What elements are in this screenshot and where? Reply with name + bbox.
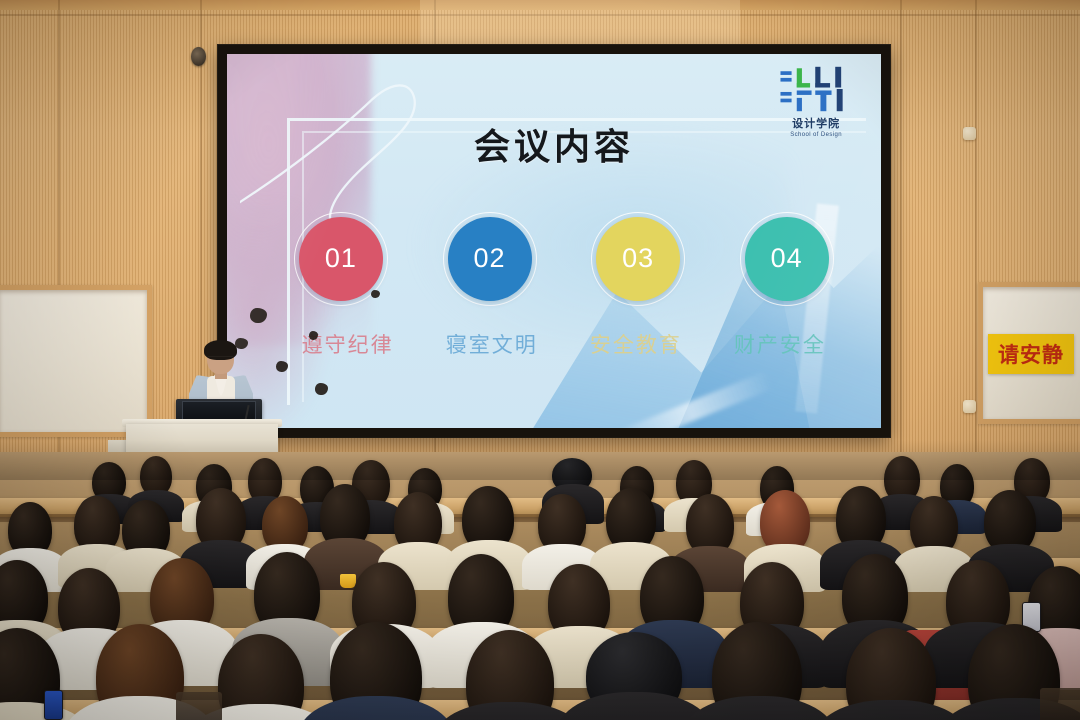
- item-label-03: 安全教育: [584, 329, 688, 359]
- circle-fill-04: 04: [745, 217, 829, 301]
- circle-fill-03: 03: [596, 217, 680, 301]
- circle-fill-01: 01: [299, 217, 383, 301]
- circle-fill-02: 02: [448, 217, 532, 301]
- wall-knob-icon: [963, 400, 976, 413]
- beam-speck: [371, 290, 380, 298]
- slide-number-circles: 01 02 03 04: [299, 217, 829, 301]
- circle-number-02: 02: [473, 243, 505, 274]
- chair-back: [176, 692, 222, 720]
- slide-title: 会议内容: [227, 118, 881, 170]
- number-circle-02: 02: [448, 217, 532, 301]
- whiteboard-left: [0, 285, 152, 437]
- ceiling-sensor-icon: [191, 47, 206, 66]
- item-label-02: 寝室文明: [440, 329, 544, 359]
- chair-back: [1040, 688, 1080, 720]
- beam-speck: [276, 361, 288, 372]
- circle-number-01: 01: [325, 243, 357, 274]
- number-circle-01: 01: [299, 217, 383, 301]
- slide-canvas: 设计学院 School of Design 会议内容 01 02: [227, 54, 881, 428]
- circle-number-03: 03: [622, 243, 654, 274]
- school-logo-mark-icon: [779, 65, 853, 113]
- beam-speck: [309, 331, 318, 340]
- audience-area: [0, 452, 1080, 720]
- circle-number-04: 04: [771, 243, 803, 274]
- item-label-04: 财产安全: [728, 329, 832, 359]
- quiet-sign-text: 请安静: [998, 339, 1064, 369]
- phone: [44, 690, 63, 720]
- wall-seam-vertical: [900, 0, 902, 470]
- wall-seam-horizontal: [0, 14, 1080, 16]
- glasses-icon: [208, 356, 233, 363]
- wall-seam-vertical: [975, 0, 977, 470]
- ceiling-strip: [0, 0, 1080, 10]
- slide-item-labels: 遵守纪律 寝室文明 安全教育 财产安全: [296, 329, 832, 359]
- projection-screen[interactable]: 设计学院 School of Design 会议内容 01 02: [218, 45, 890, 437]
- wall-knob-icon: [963, 127, 976, 140]
- quiet-sign: 请安静: [988, 334, 1074, 374]
- number-circle-03: 03: [596, 217, 680, 301]
- lecture-hall-scene: 请安静: [0, 0, 1080, 720]
- number-circle-04: 04: [745, 217, 829, 301]
